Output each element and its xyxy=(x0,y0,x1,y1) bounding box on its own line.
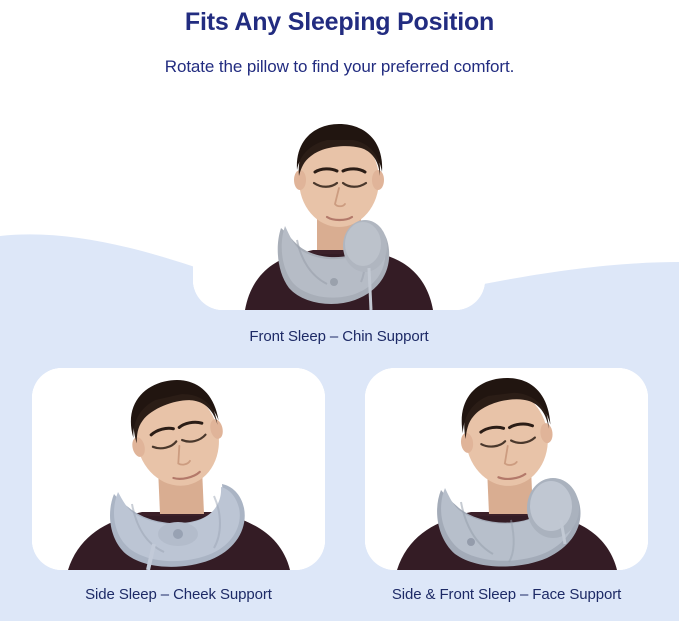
caption-side-front-sleep: Side & Front Sleep – Face Support xyxy=(355,586,658,603)
caption-front-sleep: Front Sleep – Chin Support xyxy=(193,328,485,345)
photo-side-front-sleep xyxy=(365,368,648,570)
product-infographic: Fits Any Sleeping Position Rotate the pi… xyxy=(0,0,679,621)
photo-card-side-front-sleep xyxy=(365,368,648,570)
photo-side-sleep xyxy=(32,368,325,570)
header-block: Fits Any Sleeping Position Rotate the pi… xyxy=(0,0,679,78)
photo-card-front-sleep xyxy=(193,110,485,310)
caption-side-sleep: Side Sleep – Cheek Support xyxy=(22,586,335,603)
page-subtitle: Rotate the pillow to find your preferred… xyxy=(0,39,679,78)
photo-card-side-sleep xyxy=(32,368,325,570)
page-title: Fits Any Sleeping Position xyxy=(0,0,679,39)
photo-front-sleep xyxy=(193,110,485,310)
